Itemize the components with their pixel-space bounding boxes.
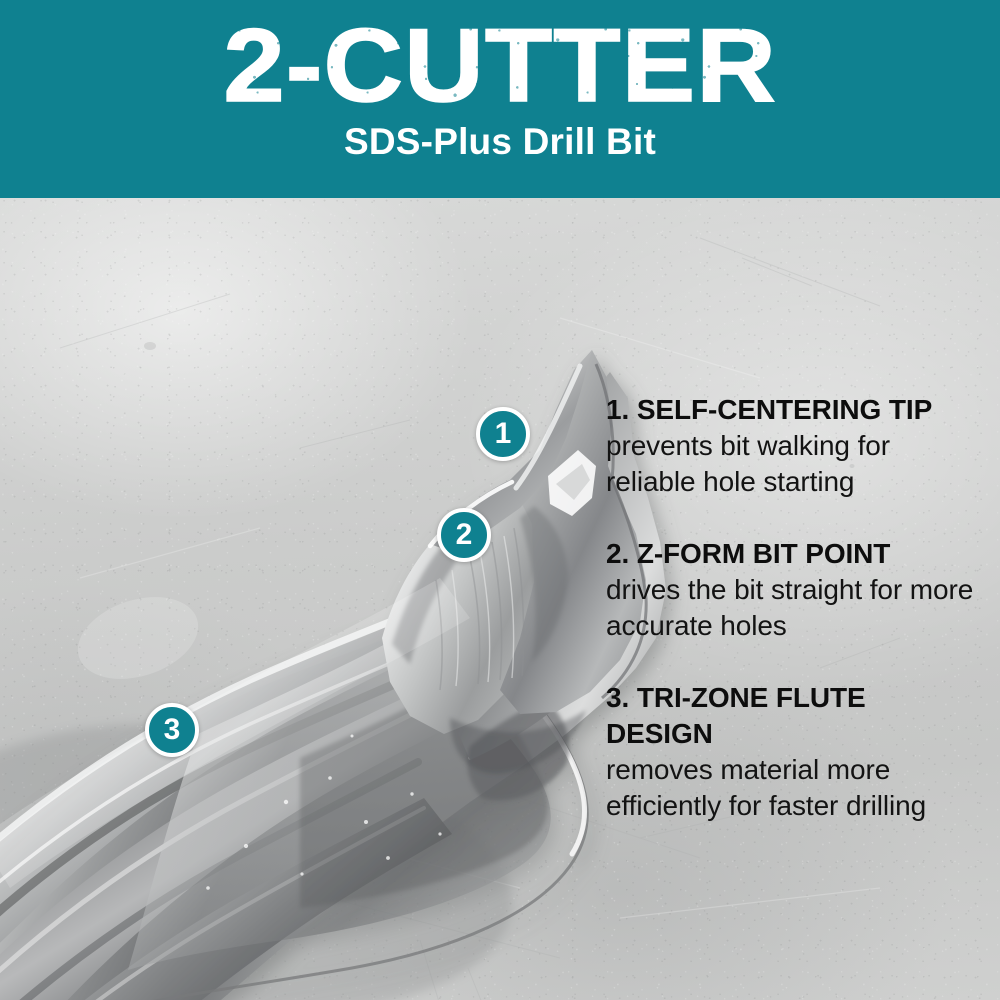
callout-badge-1: 1 bbox=[476, 407, 530, 461]
callout-badge-3: 3 bbox=[145, 703, 199, 757]
callout-badge-2-number: 2 bbox=[456, 520, 473, 550]
callout-2-body: drives the bit straight for more accurat… bbox=[606, 572, 978, 644]
callout-item-1: 1. SELF-CENTERING TIP prevents bit walki… bbox=[606, 392, 978, 500]
callout-list: 1. SELF-CENTERING TIP prevents bit walki… bbox=[606, 392, 978, 824]
callout-item-3: 3. TRI-ZONE FLUTE DESIGN removes materia… bbox=[606, 680, 978, 824]
callout-1-title: 1. SELF-CENTERING TIP bbox=[606, 392, 978, 428]
product-infographic: 2-CUTTER SDS-Plus Drill Bit 1 2 3 1. SEL… bbox=[0, 0, 1000, 1000]
callout-2-title: 2. Z-FORM BIT POINT bbox=[606, 536, 978, 572]
title-wrap: 2-CUTTER bbox=[239, 16, 761, 116]
callout-1-body: prevents bit walking for reliable hole s… bbox=[606, 428, 978, 500]
callout-badge-3-number: 3 bbox=[164, 715, 181, 745]
callout-badge-2: 2 bbox=[437, 508, 491, 562]
page-title: 2-CUTTER bbox=[223, 16, 777, 116]
header-banner: 2-CUTTER SDS-Plus Drill Bit bbox=[0, 0, 1000, 198]
callout-badge-1-number: 1 bbox=[495, 419, 512, 449]
callout-item-2: 2. Z-FORM BIT POINT drives the bit strai… bbox=[606, 536, 978, 644]
callout-3-body: removes material more efficiently for fa… bbox=[606, 752, 978, 824]
page-subtitle: SDS-Plus Drill Bit bbox=[344, 122, 656, 162]
callout-3-title: 3. TRI-ZONE FLUTE DESIGN bbox=[606, 680, 978, 752]
